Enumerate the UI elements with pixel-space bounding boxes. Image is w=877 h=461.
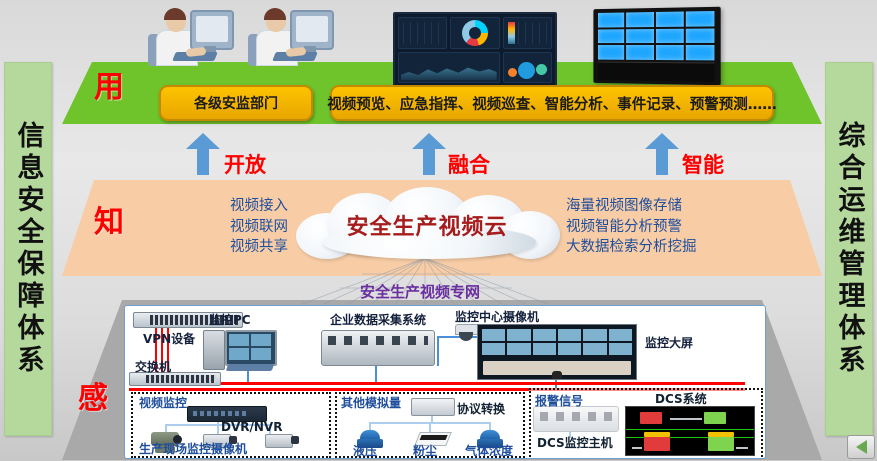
dome-camera-icon (455, 324, 479, 342)
scada-pipe (736, 447, 748, 449)
wall-tile (686, 11, 715, 26)
screen-shape (296, 16, 328, 42)
video-cloud-shape: 安全生产视频云 (292, 187, 562, 261)
wall-tile (558, 329, 581, 341)
operator-figure (146, 6, 234, 68)
bubble-shape (518, 62, 535, 79)
dashboard-area-panel (398, 52, 500, 84)
arrow-left-icon (856, 440, 867, 454)
left-side-panel: 信息安全保障体系 (4, 62, 52, 436)
wall-tile (609, 329, 632, 341)
application-box-departments[interactable]: 各级安监部门 (159, 85, 313, 121)
device-label-center-camera: 监控中心摄像机 (455, 308, 539, 325)
dcs-scada-screen (625, 406, 755, 456)
bus-line (129, 382, 745, 385)
data-collection-server-icon (321, 330, 435, 366)
control-room-video-wall (482, 329, 632, 355)
link-line (437, 336, 439, 366)
camera-lens (291, 436, 299, 444)
screen-tile (229, 334, 249, 346)
control-room-chair (552, 371, 562, 379)
scada-unit (640, 412, 662, 424)
group-title-video-monitoring: 视频监控 (139, 394, 187, 411)
wall-tile (686, 28, 715, 43)
device-label-switch: 交换机 (135, 358, 171, 375)
right-panel-label: 综合运维管理体系 (836, 121, 863, 377)
group-title-analog: 其他模拟量 (341, 394, 401, 411)
dashboard-heat-panel (503, 17, 552, 49)
arrow-shaft (423, 147, 435, 175)
arrow-shaft (197, 147, 209, 175)
dashboard-table-panel (398, 17, 447, 49)
scada-unit (644, 437, 670, 451)
bubble-shape (536, 64, 547, 75)
scada-unit (708, 437, 734, 451)
area-chart-shape (401, 62, 497, 80)
dashboard-donut-panel (450, 17, 499, 49)
link-line (375, 364, 377, 384)
wall-tile (533, 329, 556, 341)
heat-scale-shape (508, 22, 515, 44)
wall-tile (598, 45, 624, 59)
wall-tile (507, 343, 530, 355)
cloud-left-capabilities: 视频接入 视频联网 视频共享 (128, 196, 288, 258)
video-wall-illustration (593, 7, 720, 86)
scada-pipe (632, 447, 642, 449)
wall-tile (598, 13, 624, 28)
video-wall-base (598, 62, 714, 83)
protocol-converter-icon (411, 398, 455, 416)
arrow-shaft (656, 147, 668, 175)
donut-chart-shape (462, 20, 488, 46)
left-panel-label: 信息安全保障体系 (15, 121, 42, 377)
wall-tile (507, 329, 530, 341)
screen-tile (251, 334, 271, 346)
wall-tile (686, 45, 715, 60)
wall-tile (626, 12, 653, 27)
device-label-data-collection: 企业数据采集系统 (330, 311, 426, 328)
dome-ball (459, 332, 473, 341)
wall-tile (583, 343, 606, 355)
arrow-up-smart-icon (645, 133, 679, 175)
table-rows-shape (403, 22, 442, 44)
bullet-camera-icon (265, 434, 299, 448)
sensor-label-hydraulic: 液压 (353, 442, 377, 459)
group-label-site-cameras: 生产现场监控摄像机 (139, 440, 247, 457)
group-label-dcs-system: DCS系统 (655, 390, 707, 407)
wall-tile (626, 45, 653, 60)
operators-at-computers-illustration (146, 6, 336, 68)
dashboard-bubble-panel (503, 52, 552, 84)
layer-label-zhi: 知 (94, 197, 124, 241)
hair-shape (264, 8, 286, 20)
arrow-label-open: 开放 (224, 149, 266, 179)
device-label-large-screen: 监控大屏 (645, 334, 693, 351)
group-label-protocol-convert: 协议转换 (457, 400, 505, 417)
right-side-panel: 综合运维管理体系 (825, 62, 873, 436)
cloud-title: 安全生产视频云 (292, 209, 562, 241)
scroll-back-button[interactable] (847, 435, 875, 459)
wall-tile (598, 29, 624, 43)
screen-tile (251, 348, 271, 360)
screen-shape (196, 16, 228, 42)
sensing-layer-container: VPN设备 交换机 监控PC 企业数据采集系统 监控中心摄像机 监控大屏 视频监… (124, 305, 766, 459)
wall-tile (482, 329, 505, 341)
wall-tile (533, 343, 556, 355)
wall-tile (655, 28, 683, 43)
group-title-alarm-signal: 报警信号 (535, 392, 583, 409)
analytics-dashboard-illustration (393, 12, 557, 88)
server-slots (328, 336, 428, 345)
monitor-shape (190, 10, 234, 50)
arrow-up-open-icon (186, 133, 220, 175)
scada-pipe (670, 418, 702, 420)
group-label-dvr-nvr: DVR/NVR (221, 420, 282, 434)
rack-ports (146, 375, 216, 383)
arrow-up-fuse-icon (412, 133, 446, 175)
wall-tile (655, 45, 683, 60)
layer-label-yong: 用 (94, 62, 124, 106)
cloud-right-capabilities: 海量视频图像存储 视频智能分析预警 大数据检索分析挖掘 (566, 196, 796, 258)
sensor-label-dust: 粉尘 (413, 442, 437, 459)
scada-tag (708, 432, 734, 437)
scada-tag (644, 432, 670, 437)
wall-tile (626, 29, 653, 44)
scada-bus (626, 429, 754, 430)
hair-shape (164, 8, 186, 20)
arrow-label-smart: 智能 (682, 149, 724, 179)
wall-tile (482, 343, 505, 355)
camera-body (265, 434, 293, 448)
screen-tile (229, 348, 249, 360)
scatter-shape (518, 22, 547, 44)
wall-tile (583, 329, 606, 341)
arrow-label-fuse: 融合 (448, 149, 490, 179)
bubble-shape (508, 68, 517, 77)
device-label-monitor-pc: 监控PC (209, 311, 251, 328)
wall-tile (609, 343, 632, 355)
pc-monitor-icon (225, 330, 277, 366)
wall-tile (655, 12, 683, 27)
pc-keyboard-icon (226, 364, 275, 371)
device-label-vpn: VPN设备 (143, 330, 195, 347)
video-wall-screens (598, 11, 714, 60)
control-room-illustration (477, 324, 637, 380)
wall-tile (558, 343, 581, 355)
private-network-label: 安全生产视频专网 (360, 281, 480, 302)
dashboard-grid (398, 17, 552, 83)
operator-figure (246, 6, 334, 68)
application-box-functions[interactable]: 视频预览、应急指挥、视频巡查、智能分析、事件记录、预警预测…… (330, 85, 774, 121)
sensor-label-gas: 气体浓度 (465, 442, 513, 459)
pc-tower-icon (203, 330, 225, 370)
scada-unit (704, 412, 726, 424)
layer-label-gan: 感 (78, 373, 108, 417)
dvr-face (193, 411, 246, 416)
monitor-shape (290, 10, 334, 50)
group-label-dcs-host: DCS监控主机 (537, 434, 613, 451)
